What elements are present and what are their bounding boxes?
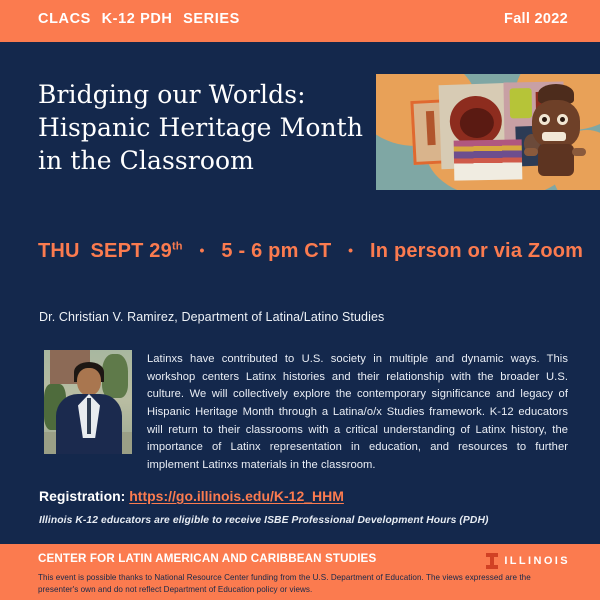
mask-eye-left [539,114,550,125]
mask-arm-right [572,148,586,156]
event-date: SEPT 29 [90,240,171,262]
term-label: Fall 2022 [504,11,568,27]
title-line-2: Hispanic Heritage Month [38,111,368,144]
mask-eye-right [557,114,568,125]
event-time: 5 - 6 pm CT [221,240,331,262]
footer-disclaimer: This event is possible thanks to Nationa… [38,572,568,595]
title-line-1: Bridging our Worlds: [38,78,368,111]
headshot-shirt-placket [87,398,91,434]
registration-link[interactable]: https://go.illinois.edu/K-12_HHM [129,488,344,504]
headshot-tree [102,354,128,398]
illinois-wordmark: ILLINOIS [504,555,570,567]
mask-arm-left [524,148,538,156]
date-ordinal-suffix: th [172,240,183,252]
event-day: THU [38,240,80,262]
event-flyer: CLACS K-12 PDH SERIES Fall 2022 Bridging… [0,0,600,600]
block-i-icon [486,553,498,569]
headshot-face [77,368,101,396]
speaker-headshot-image [44,350,132,454]
registration-line: Registration: https://go.illinois.edu/K-… [39,488,344,504]
registration-label: Registration: [39,488,125,504]
collage-carved-mask-figure [524,92,586,178]
page-title: Bridging our Worlds: Hispanic Heritage M… [38,78,368,177]
event-details-line: THU SEPT 29th • 5 - 6 pm CT • In person … [38,240,583,263]
top-banner: CLACS K-12 PDH SERIES Fall 2022 [0,0,600,42]
series-label: CLACS K-12 PDH SERIES [38,11,240,27]
description-paragraph: Latinxs have contributed to U.S. society… [147,351,568,475]
collage-artwork-image [376,74,600,190]
title-line-3: in the Classroom [38,144,368,177]
illinois-logo: ILLINOIS [486,553,570,569]
mask-body [538,144,574,176]
pdh-eligibility-note: Illinois K-12 educators are eligible to … [39,515,489,526]
speaker-line: Dr. Christian V. Ramirez, Department of … [39,310,384,324]
separator-dot: • [348,242,353,258]
event-format: In person or via Zoom [370,240,583,262]
footer-banner: CENTER FOR LATIN AMERICAN AND CARIBBEAN … [0,544,600,600]
footer-unit-name: CENTER FOR LATIN AMERICAN AND CARIBBEAN … [38,552,376,565]
separator-dot: • [200,242,205,258]
mask-mouth [542,132,566,141]
collage-woven-textile [454,139,523,180]
